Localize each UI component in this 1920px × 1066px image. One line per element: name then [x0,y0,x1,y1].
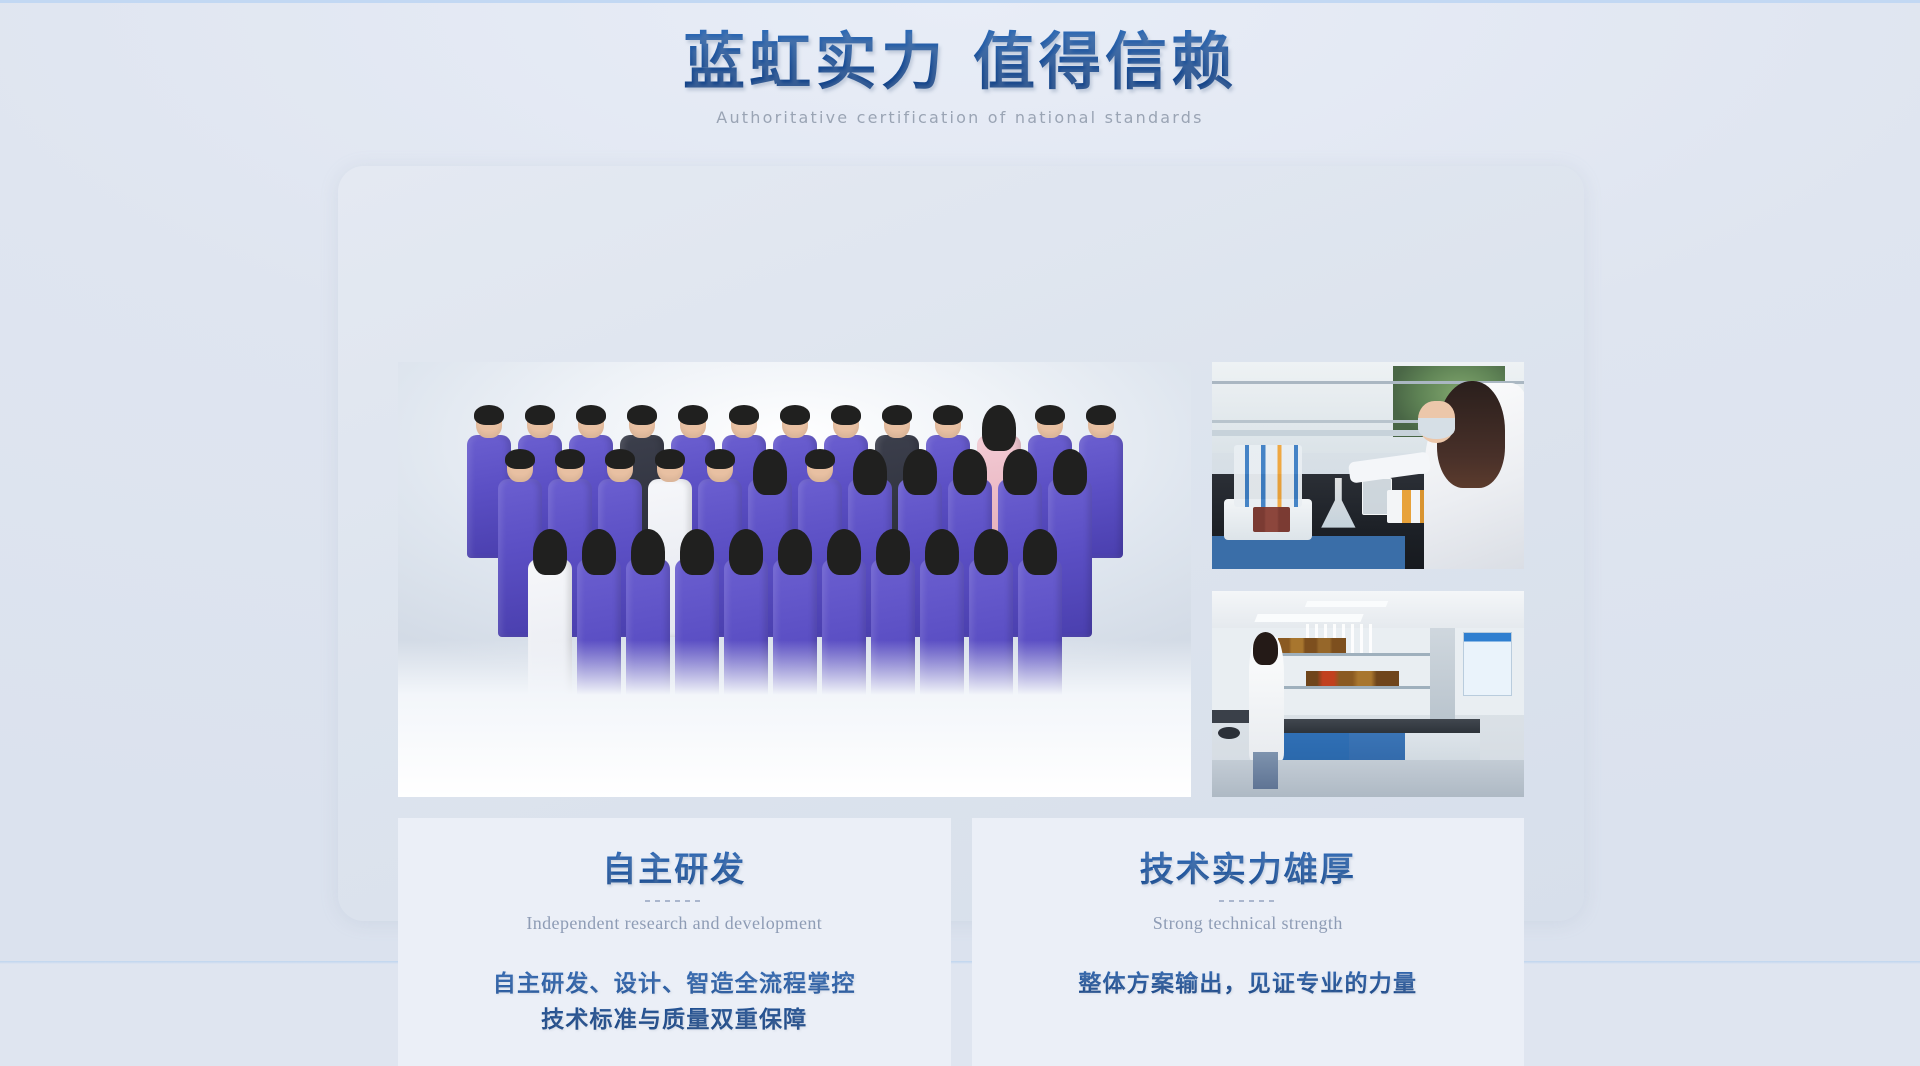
dashed-divider [1219,900,1277,902]
page-title-part2: 值得信赖 [973,29,1237,97]
feature-card-tech[interactable]: 技术实力雄厚 Strong technical strength 整体方案输出，… [972,818,1525,1066]
feature-card-body-line1: 自主研发、设计、智造全流程掌控 [493,966,856,1002]
content-panel: 自主研发 Independent research and developmen… [338,166,1584,921]
page-title-part1: 蓝虹实力 [683,29,947,97]
team-photo-floor [398,640,1191,797]
feature-card-title: 自主研发 [602,842,746,891]
dashed-divider [645,900,703,902]
team-photo [398,362,1191,797]
feature-card-english: Strong technical strength [1153,913,1343,934]
feature-card-body: 整体方案输出，见证专业的力量 [1078,966,1417,1002]
page-header: 蓝虹实力值得信赖 Authoritative certification of … [0,28,1920,127]
page-subtitle: Authoritative certification of national … [0,108,1920,127]
feature-cards: 自主研发 Independent research and developmen… [398,818,1524,1066]
top-accent-line [0,0,1920,3]
feature-card-title: 技术实力雄厚 [1140,842,1356,891]
lab-photo-room [1212,591,1524,797]
photo-grid [398,362,1524,797]
lab-photo-pipetting [1212,362,1524,569]
feature-card-body-line1: 整体方案输出，见证专业的力量 [1078,966,1417,1002]
feature-card-rd[interactable]: 自主研发 Independent research and developmen… [398,818,951,1066]
lab-photo-column [1212,362,1524,797]
feature-card-body: 自主研发、设计、智造全流程掌控 技术标准与质量双重保障 [493,966,856,1037]
feature-card-english: Independent research and development [526,913,822,934]
page-title: 蓝虹实力值得信赖 [0,28,1920,99]
feature-card-body-line2: 技术标准与质量双重保障 [493,1002,856,1038]
